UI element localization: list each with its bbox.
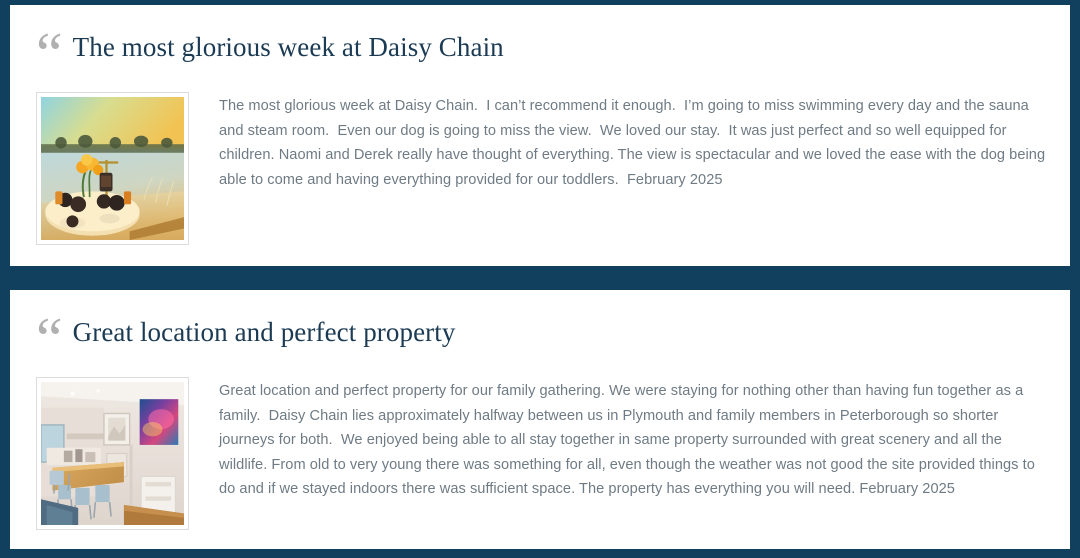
- review-title: The most glorious week at Daisy Chain: [73, 31, 504, 63]
- review-body: The most glorious week at Daisy Chain. I…: [28, 92, 1046, 245]
- review-header: “ The most glorious week at Daisy Chain: [28, 27, 1046, 76]
- review-body: Great location and perfect property for …: [28, 377, 1046, 530]
- review-title: Great location and perfect property: [73, 316, 456, 348]
- quote-mark-icon: “: [36, 33, 61, 76]
- review-text: Great location and perfect property for …: [219, 377, 1046, 502]
- review-text: The most glorious week at Daisy Chain. I…: [219, 92, 1046, 192]
- reviews-page: “ The most glorious week at Daisy Chain: [0, 0, 1080, 558]
- card-divider: [10, 266, 1070, 290]
- review-header: “ Great location and perfect property: [28, 312, 1046, 361]
- review-thumbnail[interactable]: [36, 377, 189, 530]
- review-card: “ Great location and perfect property: [10, 290, 1070, 549]
- review-thumbnail-image: [41, 97, 184, 240]
- quote-mark-icon: “: [36, 318, 61, 361]
- review-thumbnail[interactable]: [36, 92, 189, 245]
- review-card: “ The most glorious week at Daisy Chain: [10, 5, 1070, 266]
- review-thumbnail-image: [41, 382, 184, 525]
